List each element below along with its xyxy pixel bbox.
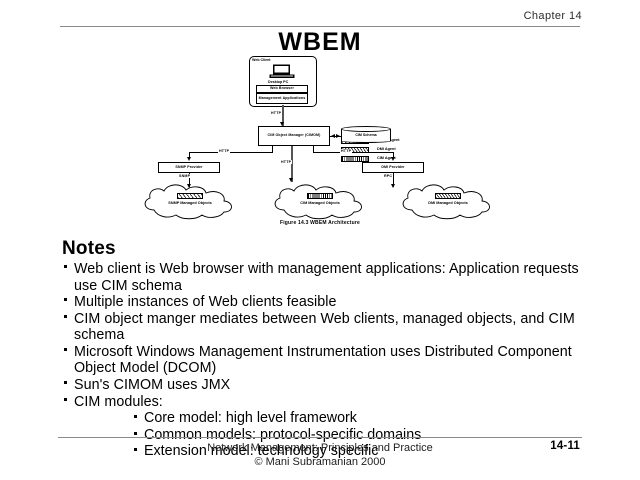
- note-item: Microsoft Windows Management Instrumenta…: [62, 344, 582, 377]
- dmi-provider-box: DMI Provider: [362, 162, 424, 173]
- bullet-icon: [134, 415, 137, 418]
- management-applications-box: Management Applications: [256, 93, 308, 104]
- note-item: Multiple instances of Web clients feasib…: [62, 294, 582, 311]
- sub-note-item: Common models: protocol-specific domains: [132, 427, 582, 444]
- desktop-pc-label: Desktop PC: [268, 80, 288, 84]
- dmi-managed-objects-label: DMI Managed Objects: [398, 201, 498, 206]
- note-text: CIM object manger mediates between Web c…: [74, 311, 575, 344]
- bullet-icon: [64, 398, 67, 401]
- footer-line-2: © Mani Subramanian 2000: [0, 456, 640, 470]
- http-left-label: HTTP: [218, 149, 230, 153]
- http-left-line: [189, 152, 273, 153]
- note-text: Sun's CIMOM uses JMX: [74, 377, 230, 393]
- http-center-label: HTTP: [280, 160, 292, 164]
- page-title: WBEM: [0, 28, 640, 57]
- sub-note-text: Core model: high level framework: [144, 410, 357, 426]
- http-left-arrow-icon: [187, 157, 191, 161]
- web-browser-box: Web Browser: [256, 85, 308, 93]
- cylinder-top: [341, 126, 391, 132]
- schema-arrow-right-icon: [336, 134, 340, 138]
- http-center-arrow-icon: [289, 178, 293, 182]
- schema-arrow-left-icon: [331, 134, 335, 138]
- bullet-icon: [64, 315, 67, 318]
- snmp-provider-box: SNMP Provider: [158, 162, 220, 173]
- note-item: Sun's CIMOM uses JMX: [62, 377, 582, 394]
- rpc-link-label: RPC: [383, 174, 393, 178]
- note-text: Web client is Web browser with managemen…: [74, 261, 579, 294]
- sub-note-item: Core model: high level framework: [132, 410, 582, 427]
- cim-agent-chip: [307, 193, 333, 199]
- http-right-label: HTTP: [340, 149, 352, 153]
- bullet-icon: [64, 348, 67, 351]
- notes-section: Notes Web client is Web browser with man…: [62, 238, 582, 460]
- rpc-link-arrow-icon: [391, 184, 395, 188]
- cim-schema-cylinder: CIM Schema: [341, 126, 391, 146]
- note-item: CIM object manger mediates between Web c…: [62, 311, 582, 344]
- bullet-icon: [64, 298, 67, 301]
- cim-schema-label: CIM Schema: [341, 133, 391, 137]
- page-number: 14-11: [550, 440, 580, 452]
- bullet-icon: [64, 381, 67, 384]
- cim-managed-objects-cloud: CIM Managed Objects: [270, 184, 370, 220]
- bullet-icon: [64, 265, 67, 268]
- dmi-managed-objects-cloud: DMI Managed Objects: [398, 184, 498, 220]
- notes-heading: Notes: [62, 238, 582, 260]
- http-client-label: HTTP: [270, 111, 282, 115]
- http-right-line: [313, 152, 393, 153]
- note-text: Multiple instances of Web clients feasib…: [74, 294, 337, 310]
- footer-line-1: Network Management: Principles and Pract…: [0, 442, 640, 456]
- http-right-arrow-icon: [391, 157, 395, 161]
- chapter-label: Chapter 14: [524, 10, 582, 22]
- dmi-agent-chip: [435, 193, 461, 199]
- snmp-managed-objects-cloud: SNMP Managed Objects: [140, 184, 240, 220]
- note-text: Microsoft Windows Management Instrumenta…: [74, 344, 572, 377]
- cim-managed-objects-label: CIM Managed Objects: [270, 201, 370, 206]
- snmp-agent-chip: [177, 193, 203, 199]
- footer-attribution: Network Management: Principles and Pract…: [0, 442, 640, 470]
- cim-object-manager-box: CIM Object Manager (CIMOM): [258, 126, 330, 146]
- footer-divider: [58, 437, 582, 438]
- web-client-label: Web Client: [252, 58, 271, 62]
- wbem-architecture-diagram: Web Client Desktop PC Web Browser Manage…: [0, 54, 640, 236]
- http-center-line: [291, 146, 293, 182]
- note-text: CIM modules:: [74, 394, 163, 410]
- bullet-icon: [134, 432, 137, 435]
- header-divider: [60, 26, 580, 27]
- snmp-managed-objects-label: SNMP Managed Objects: [140, 201, 240, 206]
- snmp-link-label: SNMP: [178, 174, 191, 178]
- figure-caption: Figure 14.3 WBEM Architecture: [0, 220, 640, 226]
- legend-label-dmi: DMI Agent: [377, 147, 396, 151]
- sub-note-text: Common models: protocol-specific domains: [144, 427, 421, 443]
- note-item: Web client is Web browser with managemen…: [62, 261, 582, 294]
- desktop-pc-icon: [268, 64, 296, 79]
- note-item: CIM modules:: [62, 394, 582, 411]
